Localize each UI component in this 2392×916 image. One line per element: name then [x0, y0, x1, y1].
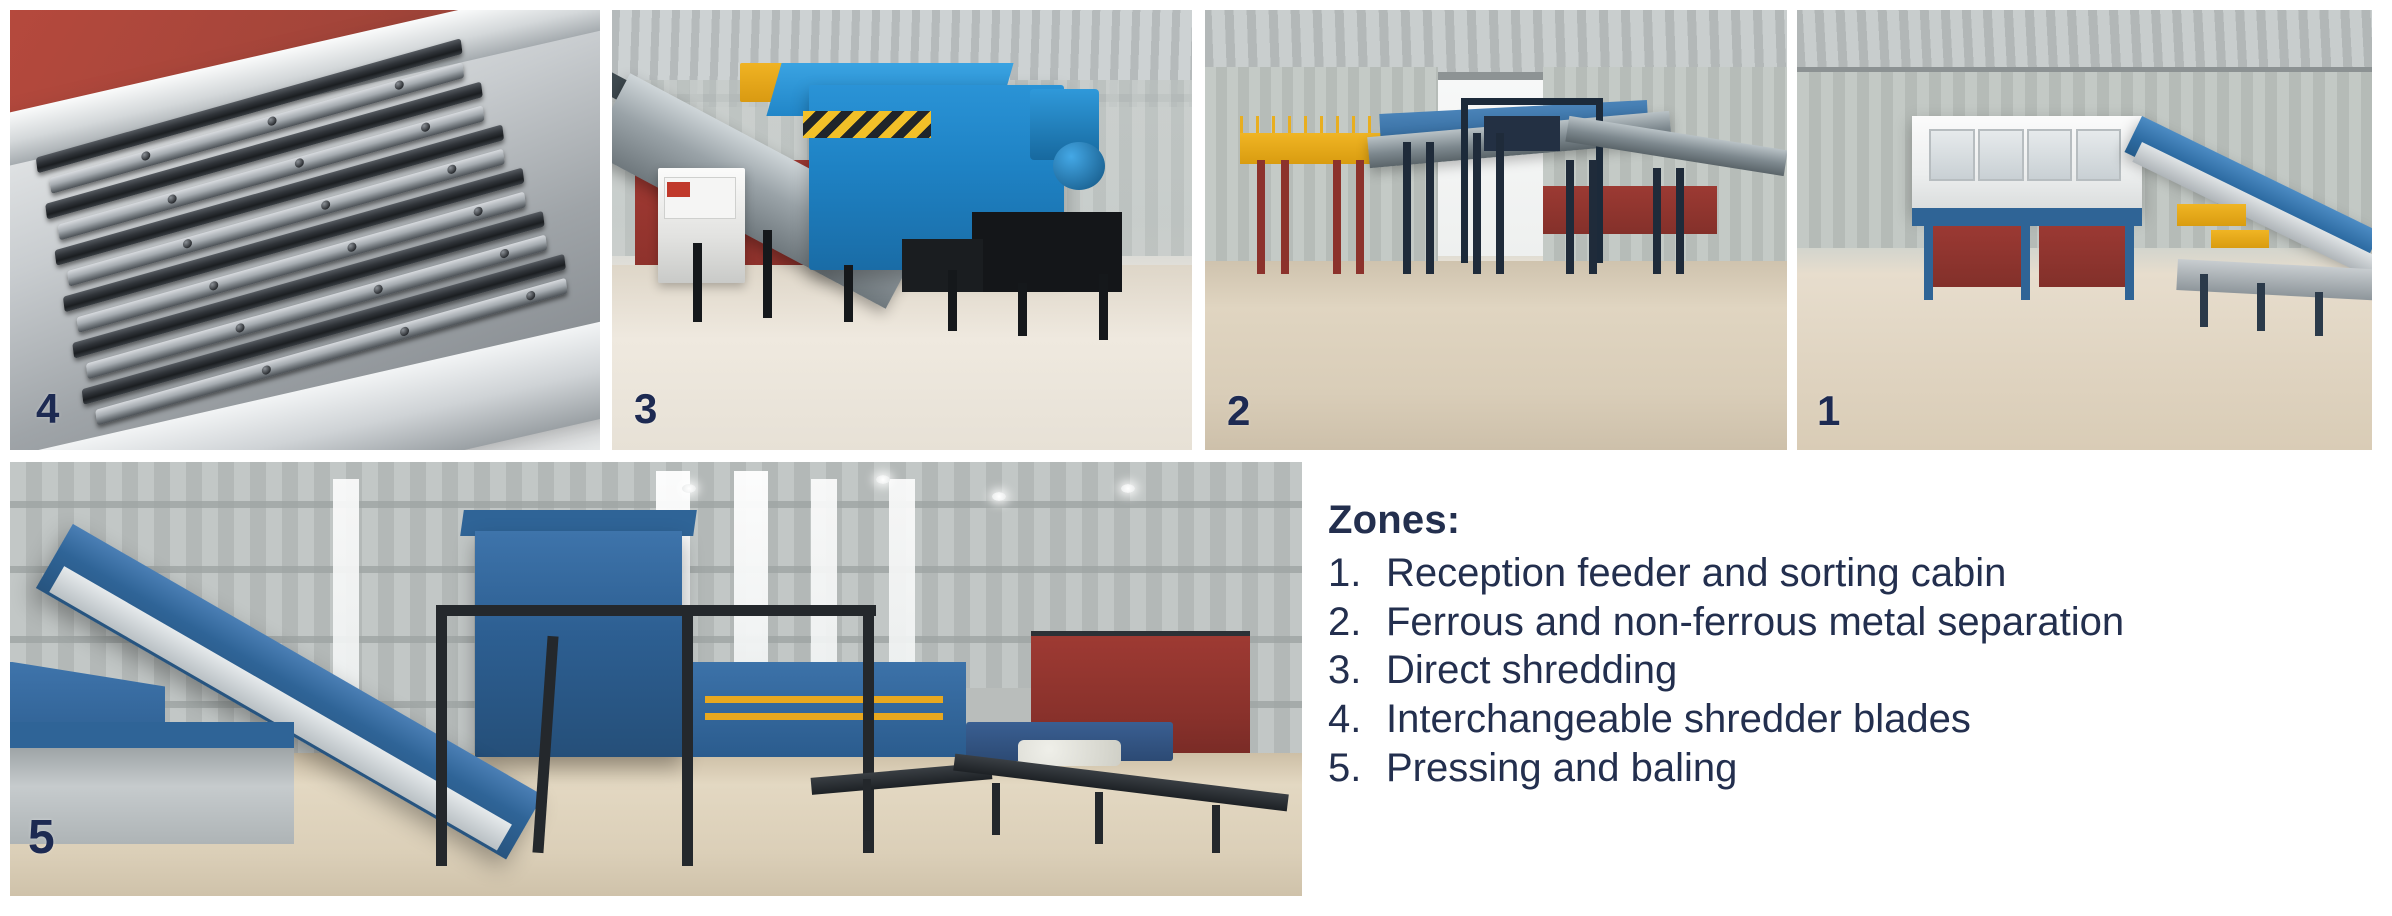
- rail-supports: [10, 462, 1302, 896]
- image-collage-board: 4 3: [0, 0, 2392, 916]
- support-legs: [612, 10, 1192, 450]
- photo-badge-1: 1: [1817, 390, 1840, 432]
- zone-label: Ferrous and non-ferrous metal separation: [1386, 598, 2124, 647]
- photo-badge-4: 4: [36, 388, 59, 430]
- zone-number: 1.: [1328, 549, 1386, 598]
- zone-label: Direct shredding: [1386, 646, 1677, 695]
- zone-label: Interchangeable shredder blades: [1386, 695, 1971, 744]
- photo-pressing-baling[interactable]: 5: [10, 462, 1302, 896]
- photo-badge-5: 5: [28, 814, 55, 862]
- zones-title: Zones:: [1328, 498, 2378, 543]
- zones-legend: Zones: 1. Reception feeder and sorting c…: [1328, 498, 2378, 793]
- photo-direct-shredding[interactable]: 3: [612, 10, 1192, 450]
- zone-item-3: 3. Direct shredding: [1328, 646, 2378, 695]
- zone-item-1: 1. Reception feeder and sorting cabin: [1328, 549, 2378, 598]
- zones-list: 1. Reception feeder and sorting cabin 2.…: [1328, 549, 2378, 793]
- zone-item-4: 4. Interchangeable shredder blades: [1328, 695, 2378, 744]
- zone-number: 5.: [1328, 744, 1386, 793]
- zone-item-2: 2. Ferrous and non-ferrous metal separat…: [1328, 598, 2378, 647]
- photo-reception-feeder[interactable]: 1: [1797, 10, 2372, 450]
- zone-number: 2.: [1328, 598, 1386, 647]
- photo-badge-2: 2: [1227, 390, 1250, 432]
- photo-metal-separation[interactable]: 2: [1205, 10, 1787, 450]
- zone-number: 3.: [1328, 646, 1386, 695]
- support-posts: [1797, 10, 2372, 450]
- zone-item-5: 5. Pressing and baling: [1328, 744, 2378, 793]
- zone-label: Pressing and baling: [1386, 744, 1737, 793]
- photo-shredder-blades[interactable]: 4: [10, 10, 600, 450]
- support-structure: [1205, 10, 1787, 450]
- zone-label: Reception feeder and sorting cabin: [1386, 549, 2006, 598]
- photo-badge-3: 3: [634, 388, 657, 430]
- zone-number: 4.: [1328, 695, 1386, 744]
